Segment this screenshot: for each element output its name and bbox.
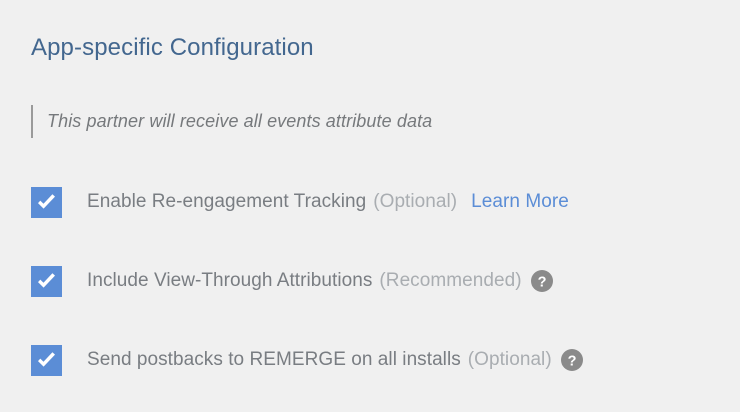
- option-row: Enable Re-engagement Tracking (Optional)…: [31, 186, 569, 218]
- help-circle-icon[interactable]: ?: [561, 349, 583, 371]
- section-note: This partner will receive all events att…: [31, 104, 432, 138]
- app-specific-configuration-panel: App-specific Configuration This partner …: [0, 0, 740, 412]
- option-qualifier: (Optional): [373, 191, 457, 213]
- option-label: Send postbacks to REMERGE on all install…: [87, 349, 461, 371]
- svg-text:?: ?: [537, 274, 546, 290]
- checkbox-send-postbacks-to-remerge[interactable]: [31, 345, 62, 376]
- note-accent-bar: [31, 105, 33, 138]
- option-qualifier: (Recommended): [379, 270, 521, 292]
- help-circle-icon[interactable]: ?: [531, 270, 553, 292]
- page-title: App-specific Configuration: [31, 34, 314, 62]
- option-row: Include View-Through Attributions (Recom…: [31, 265, 553, 297]
- svg-text:?: ?: [567, 353, 576, 369]
- option-label: Enable Re-engagement Tracking: [87, 191, 366, 213]
- option-label: Include View-Through Attributions: [87, 270, 372, 292]
- checkbox-include-view-through-attributions[interactable]: [31, 266, 62, 297]
- checkbox-enable-re-engagement-tracking[interactable]: [31, 187, 62, 218]
- option-row: Send postbacks to REMERGE on all install…: [31, 344, 583, 376]
- learn-more-link[interactable]: Learn More: [471, 191, 569, 213]
- option-qualifier: (Optional): [468, 349, 552, 371]
- note-text: This partner will receive all events att…: [47, 111, 432, 132]
